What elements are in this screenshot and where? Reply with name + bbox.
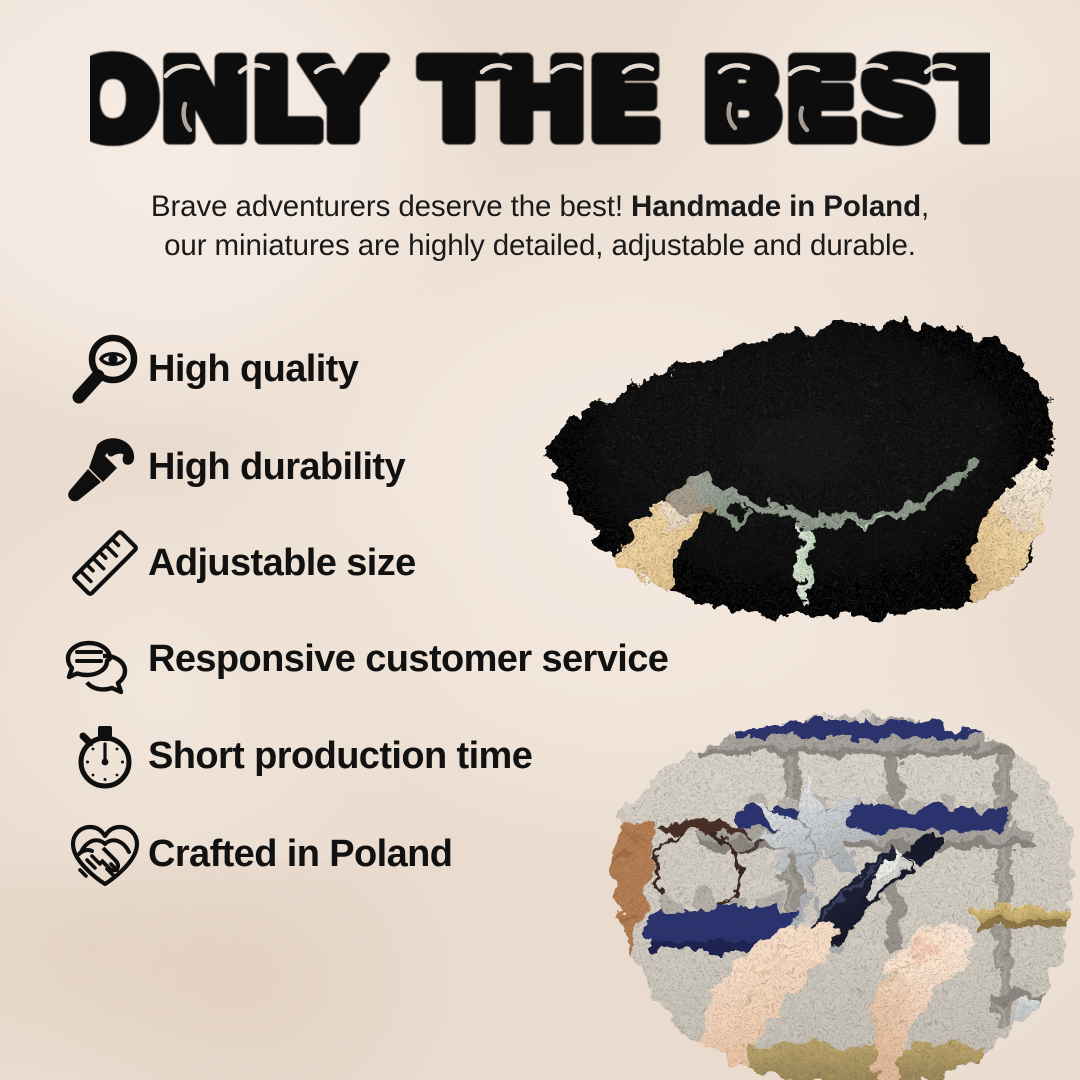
feature-label: Short production time — [148, 735, 532, 778]
feature-label: Adjustable size — [148, 542, 416, 585]
poster-root: ONLY THE BEST Brave adventurers de — [0, 0, 1080, 1080]
svg-text:ONLY THE BEST: ONLY THE BEST — [90, 42, 990, 162]
feature-item: Short production time — [62, 715, 782, 797]
heart-handshake-icon — [62, 814, 148, 894]
subtitle-lead: Brave adventurers deserve the best! — [151, 190, 623, 223]
hammer-icon — [62, 427, 148, 507]
feature-item: High quality — [62, 328, 782, 410]
feature-label: High durability — [148, 446, 405, 489]
feature-label: Crafted in Poland — [148, 833, 452, 876]
subtitle-emphasis: Handmade in Poland — [631, 190, 921, 223]
feature-item: Responsive customer service — [62, 618, 782, 700]
subtitle: Brave adventurers deserve the best! Hand… — [60, 188, 1020, 266]
subtitle-tail: , — [921, 190, 929, 223]
speech-bubbles-icon — [62, 619, 148, 699]
subtitle-line-1: Brave adventurers deserve the best! Hand… — [151, 190, 929, 223]
magnifier-eye-icon — [62, 329, 148, 409]
feature-item: High durability — [62, 426, 782, 508]
page-title: ONLY THE BEST — [0, 42, 1080, 162]
stopwatch-icon — [62, 716, 148, 796]
feature-label: High quality — [148, 348, 358, 391]
feature-item: Adjustable size — [62, 522, 782, 604]
feature-list: High quality High durability — [62, 328, 782, 910]
subtitle-line-2: our miniatures are highly detailed, adju… — [164, 229, 916, 262]
feature-item: Crafted in Poland — [62, 813, 782, 895]
ruler-icon — [62, 523, 148, 603]
feature-label: Responsive customer service — [148, 638, 668, 681]
